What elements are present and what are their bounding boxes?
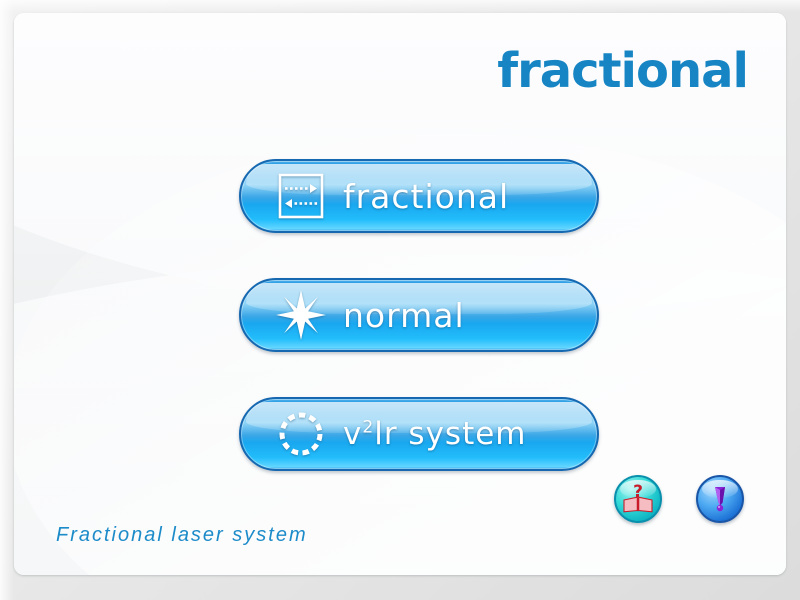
info-alert-icon[interactable] (696, 475, 744, 523)
dashed-circle-icon (275, 408, 327, 460)
app-frame: fractional (0, 0, 800, 600)
v2lr-prefix: v (343, 416, 362, 452)
utility-icon-bar: ? (614, 475, 744, 523)
mode-button-v2lr-system[interactable]: v2lr system (239, 397, 599, 471)
mode-button-label-fractional: fractional (343, 177, 509, 216)
mode-button-normal[interactable]: normal (239, 278, 599, 352)
info-alert-glyph (704, 481, 736, 518)
mode-button-label-v2lr-system: v2lr system (343, 416, 527, 452)
page-title: fractional (497, 47, 748, 95)
status-text: Fractional laser system (56, 524, 308, 547)
v2lr-superscript: 2 (362, 418, 374, 438)
mode-button-fractional[interactable]: fractional (239, 159, 599, 233)
screen-panel: fractional (14, 13, 786, 575)
help-manual-icon[interactable]: ? (614, 475, 662, 523)
help-manual-glyph: ? (621, 480, 655, 519)
mode-button-list: fractional normal (239, 159, 601, 516)
starburst-icon (275, 289, 327, 341)
mode-button-label-normal: normal (343, 296, 465, 335)
v2lr-suffix: lr system (374, 416, 526, 452)
fractional-square-arrows-icon (275, 170, 327, 222)
